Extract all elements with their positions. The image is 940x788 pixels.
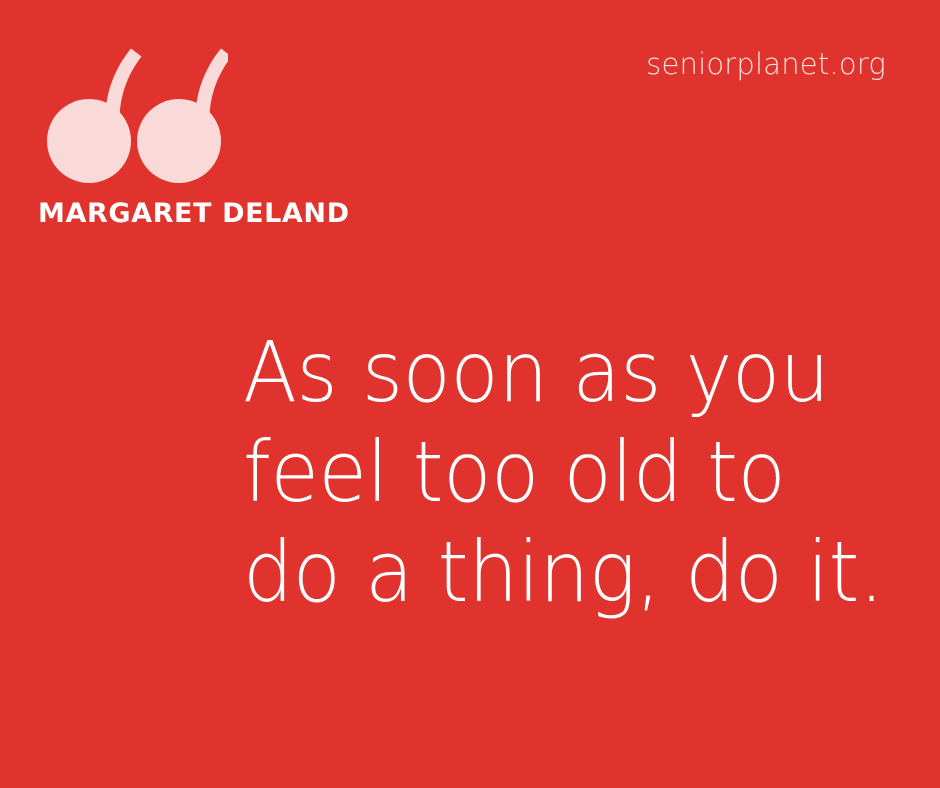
quote-line: feel too old to [243, 422, 863, 522]
open-quote-icon [44, 34, 228, 184]
quote-text: As soon as you feel too old to do a thin… [243, 322, 903, 622]
quote-line: do a thing, do it. [243, 522, 863, 622]
site-url: seniorplanet.org [646, 50, 886, 79]
quote-line: As soon as you [243, 322, 863, 422]
quote-poster: seniorplanet.org MARGARET DELAND As soon… [0, 0, 940, 788]
author-name: MARGARET DELAND [38, 198, 350, 229]
